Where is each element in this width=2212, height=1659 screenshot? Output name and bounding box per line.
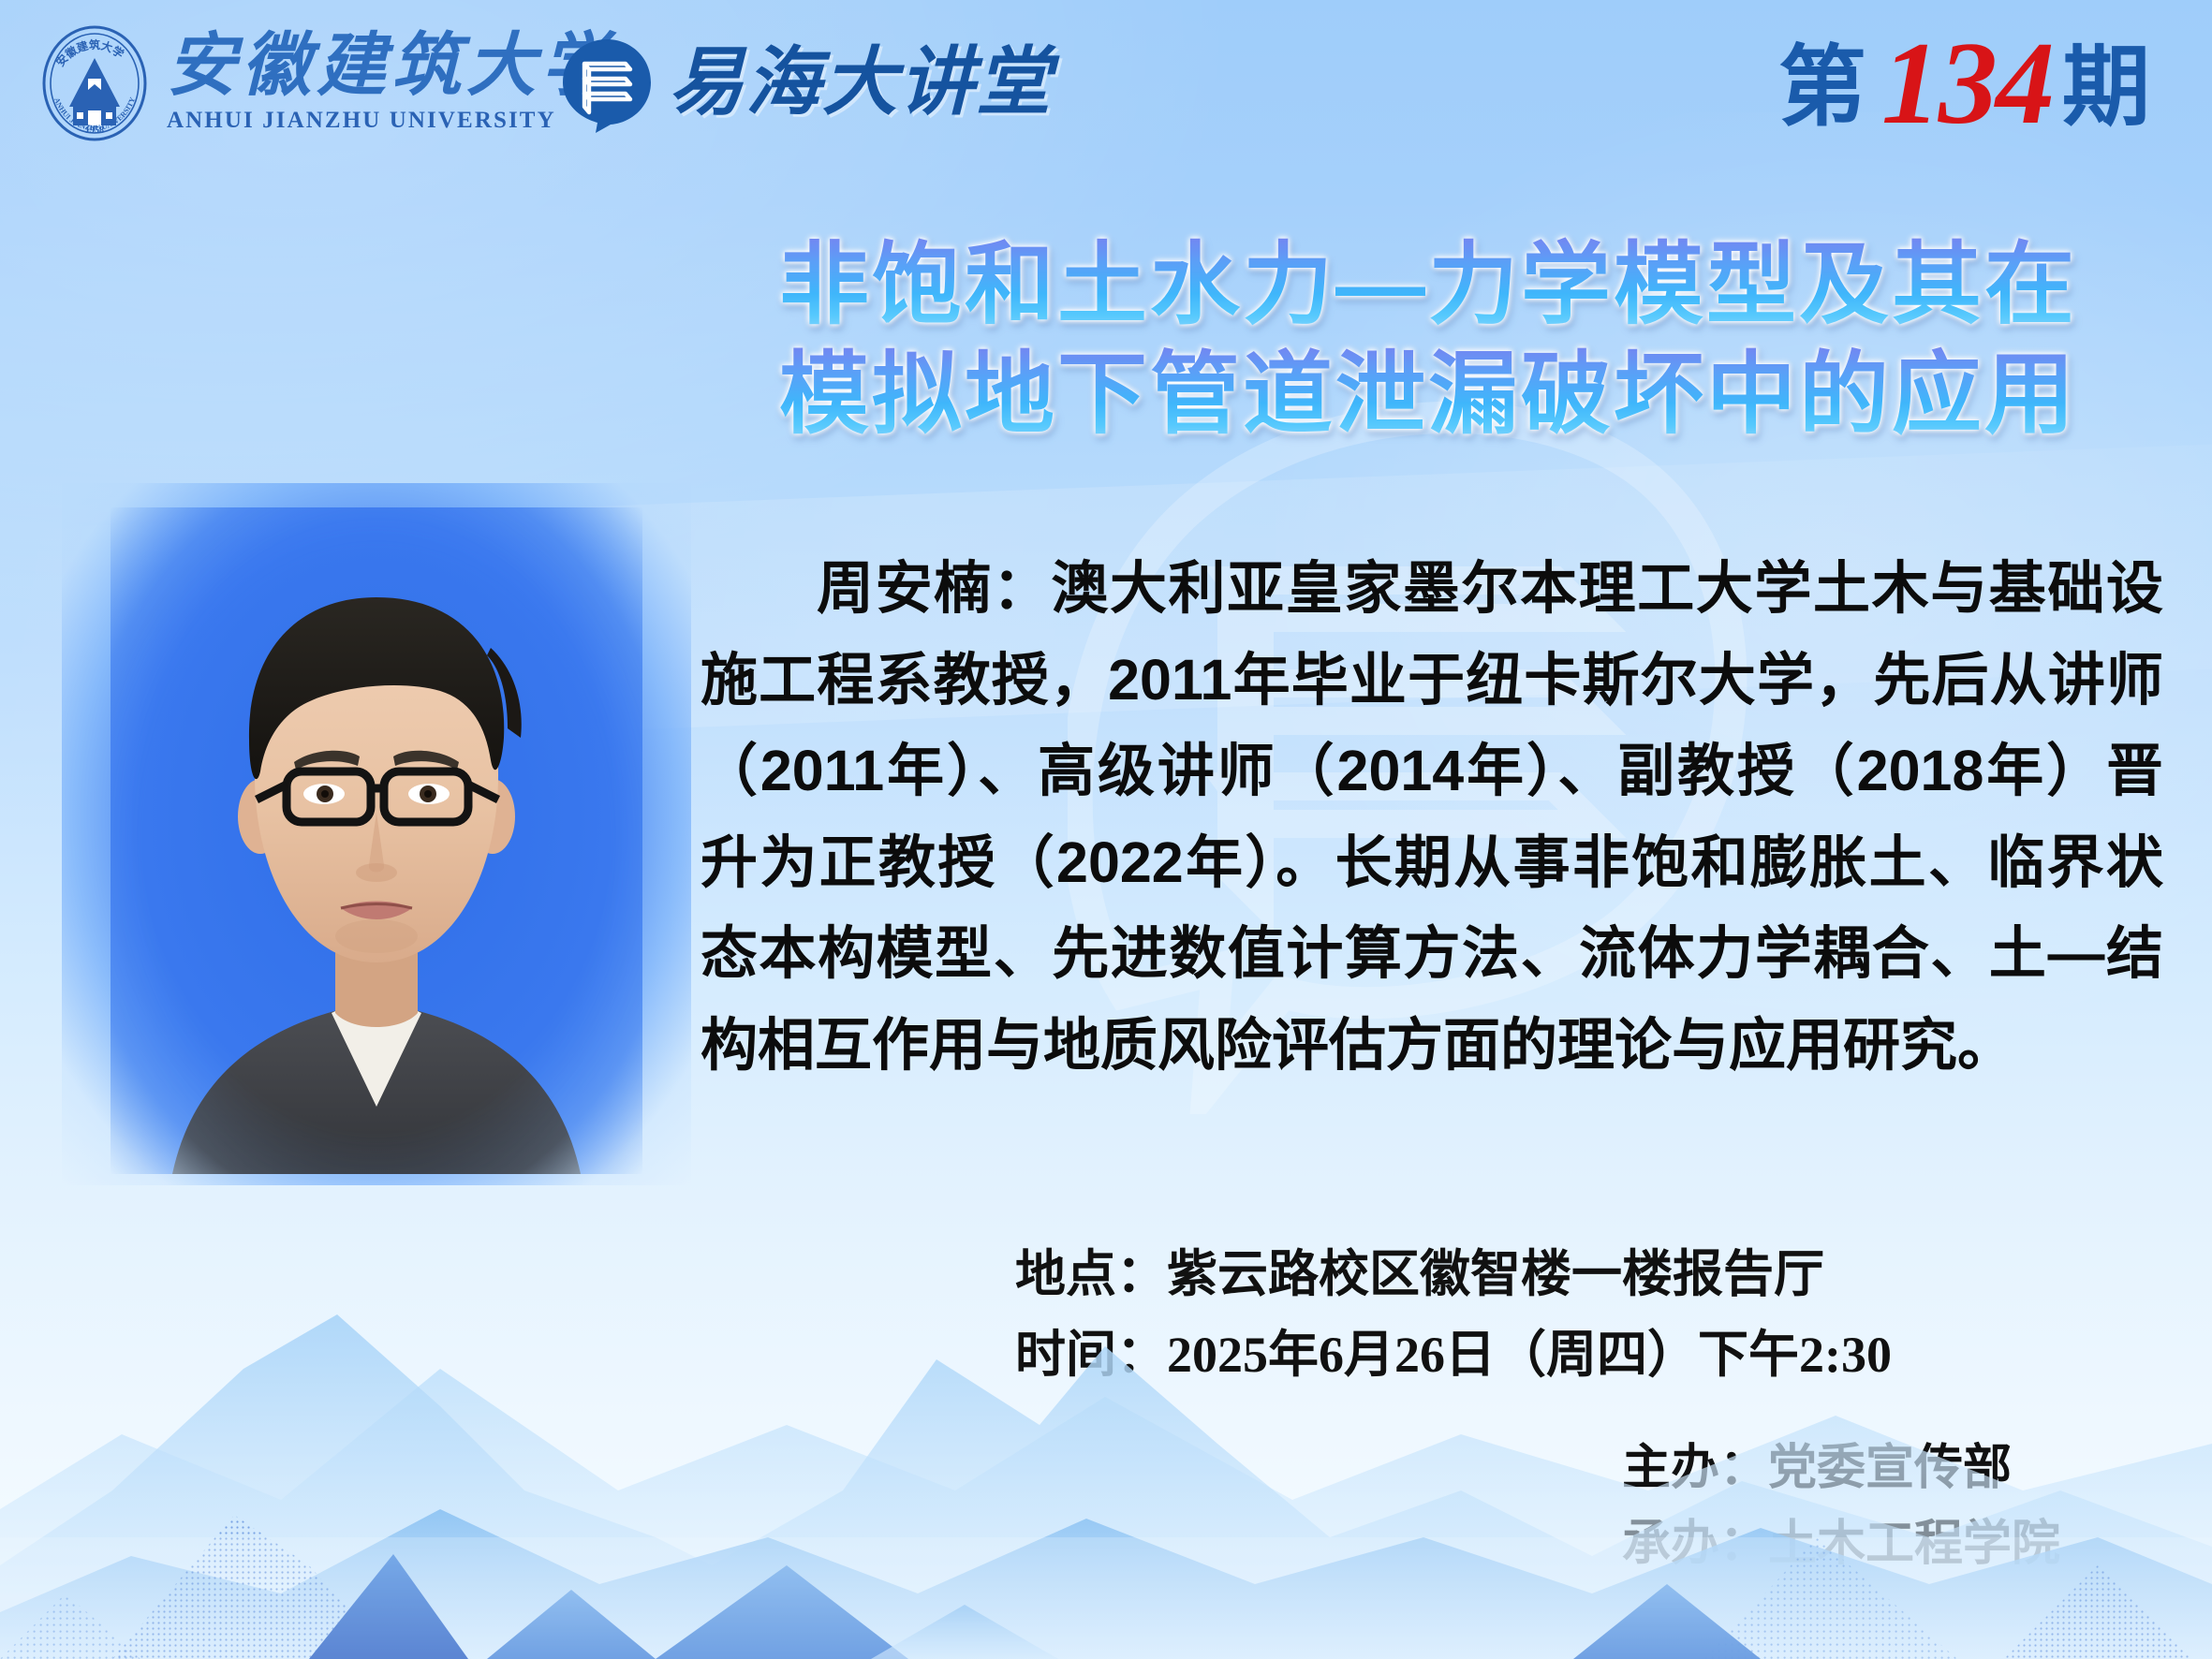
speaker-photo <box>111 507 642 1174</box>
event-details: 地点：紫云路校区徽智楼一楼报告厅 时间：2025年6月26日（周四）下午2:30 <box>1015 1236 1892 1396</box>
issue-suffix-label: 期 <box>2062 43 2150 131</box>
title-line-1: 非饱和土水力—力学模型及其在 <box>693 230 2163 340</box>
university-name-en: ANHUI JIANZHU UNIVERSITY <box>167 108 532 134</box>
poster-header: 1958 安徽建筑大学 ANHUI JIANZHU UNIVERSITY 安徽建… <box>0 0 2212 159</box>
svg-text:安徽建筑大学: 安徽建筑大学 <box>52 37 126 69</box>
event-time: 时间：2025年6月26日（周四）下午2:30 <box>1015 1316 1892 1395</box>
lecture-series-name: 易海大讲堂 <box>669 36 1053 129</box>
university-name-cn: 安徽建筑大学 <box>167 32 532 102</box>
issue-prefix-label: 第 <box>1778 43 1866 131</box>
speaker-portrait <box>62 483 691 1185</box>
lecture-poster: 1958 安徽建筑大学 ANHUI JIANZHU UNIVERSITY 安徽建… <box>0 0 2212 1659</box>
lecture-series-logo-icon <box>558 36 656 133</box>
speaker-bio: 周安楠：澳大利亚皇家墨尔本理工大学土木与基础设施工程系教授，2011年毕业于纽卡… <box>700 543 2163 1092</box>
event-organiser: 承办：土木工程学院 <box>1622 1506 2060 1582</box>
organiser-block: 主办：党委宣传部 承办：土木工程学院 <box>1622 1431 2060 1582</box>
university-name-block: 安徽建筑大学 ANHUI JIANZHU UNIVERSITY <box>167 32 532 134</box>
issue-number: 134 <box>1881 30 2053 139</box>
title-line-2: 模拟地下管道泄漏破坏中的应用 <box>693 340 2163 449</box>
event-host: 主办：党委宣传部 <box>1622 1431 2060 1506</box>
event-venue: 地点：紫云路校区徽智楼一楼报告厅 <box>1015 1236 1892 1314</box>
issue-badge: 第 134 期 <box>1778 22 2150 131</box>
page-title: 非饱和土水力—力学模型及其在 模拟地下管道泄漏破坏中的应用 <box>693 230 2163 449</box>
university-emblem-icon: 1958 安徽建筑大学 ANHUI JIANZHU UNIVERSITY <box>39 24 150 142</box>
